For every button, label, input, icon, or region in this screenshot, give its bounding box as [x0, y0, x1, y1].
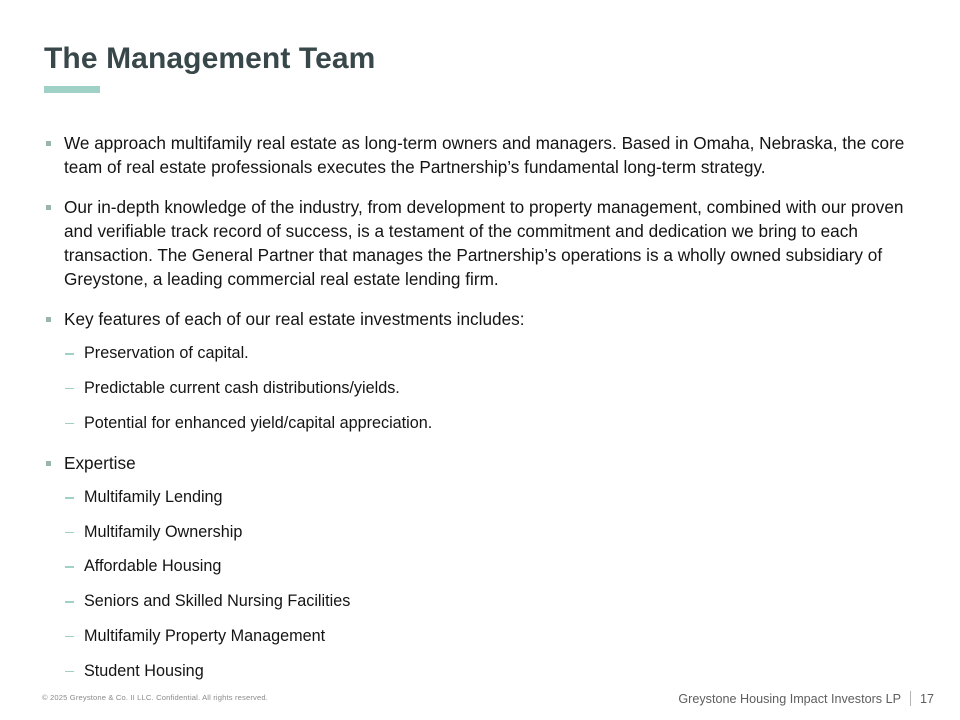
copyright-notice: © 2025 Greystone & Co. II LLC. Confident…	[42, 693, 268, 702]
bullet-paragraph-2: Our in-depth knowledge of the industry, …	[44, 196, 924, 291]
list-item: Affordable Housing	[64, 556, 924, 578]
list-item-label: Multifamily Property Management	[84, 627, 325, 645]
dash-bullet-icon	[65, 497, 74, 499]
list-item-label: Seniors and Skilled Nursing Facilities	[84, 592, 350, 610]
list-item-label: Potential for enhanced yield/capital app…	[84, 414, 432, 432]
dash-bullet-icon	[65, 388, 74, 390]
list-item: Predictable current cash distributions/y…	[64, 378, 924, 400]
dash-bullet-icon	[65, 423, 74, 425]
page-title: The Management Team	[44, 42, 375, 76]
square-bullet-icon	[46, 317, 51, 322]
expertise-list: Multifamily Lending Multifamily Ownershi…	[64, 487, 924, 682]
entity-name: Greystone Housing Impact Investors LP	[678, 692, 901, 706]
key-features-list: Preservation of capital. Predictable cur…	[64, 343, 924, 434]
page-number: 17	[920, 692, 934, 706]
key-features-group: Key features of each of our real estate …	[44, 308, 924, 434]
title-accent-rule	[44, 86, 100, 93]
list-item-label: Preservation of capital.	[84, 344, 249, 362]
body-content: We approach multifamily real estate as l…	[44, 132, 924, 682]
dash-bullet-icon	[65, 636, 74, 638]
list-item-label: Multifamily Lending	[84, 488, 223, 506]
expertise-heading: Expertise	[64, 453, 136, 473]
list-item-label: Multifamily Ownership	[84, 523, 242, 541]
dash-bullet-icon	[65, 532, 74, 534]
dash-bullet-icon	[65, 671, 74, 673]
list-item: Multifamily Lending	[64, 487, 924, 509]
list-item: Seniors and Skilled Nursing Facilities	[64, 591, 924, 613]
square-bullet-icon	[46, 141, 51, 146]
list-item-label: Predictable current cash distributions/y…	[84, 379, 400, 397]
square-bullet-icon	[46, 461, 51, 466]
list-item: Preservation of capital.	[64, 343, 924, 365]
key-features-heading: Key features of each of our real estate …	[64, 309, 525, 329]
list-item: Multifamily Ownership	[64, 522, 924, 544]
slide-canvas: The Management Team We approach multifam…	[0, 0, 960, 720]
expertise-group: Expertise Multifamily Lending Multifamil…	[44, 452, 924, 682]
footer-divider	[910, 691, 911, 706]
list-item-label: Affordable Housing	[84, 557, 221, 575]
list-item: Potential for enhanced yield/capital app…	[64, 413, 924, 435]
dash-bullet-icon	[65, 353, 74, 355]
dash-bullet-icon	[65, 601, 74, 603]
paragraph-text: Our in-depth knowledge of the industry, …	[64, 197, 903, 288]
title-block: The Management Team	[44, 42, 375, 93]
slide-footer: © 2025 Greystone & Co. II LLC. Confident…	[0, 674, 960, 720]
dash-bullet-icon	[65, 566, 74, 568]
list-item: Multifamily Property Management	[64, 626, 924, 648]
square-bullet-icon	[46, 205, 51, 210]
paragraph-text: We approach multifamily real estate as l…	[64, 133, 904, 177]
bullet-paragraph-1: We approach multifamily real estate as l…	[44, 132, 924, 179]
footer-right-group: Greystone Housing Impact Investors LP 17	[678, 691, 934, 706]
